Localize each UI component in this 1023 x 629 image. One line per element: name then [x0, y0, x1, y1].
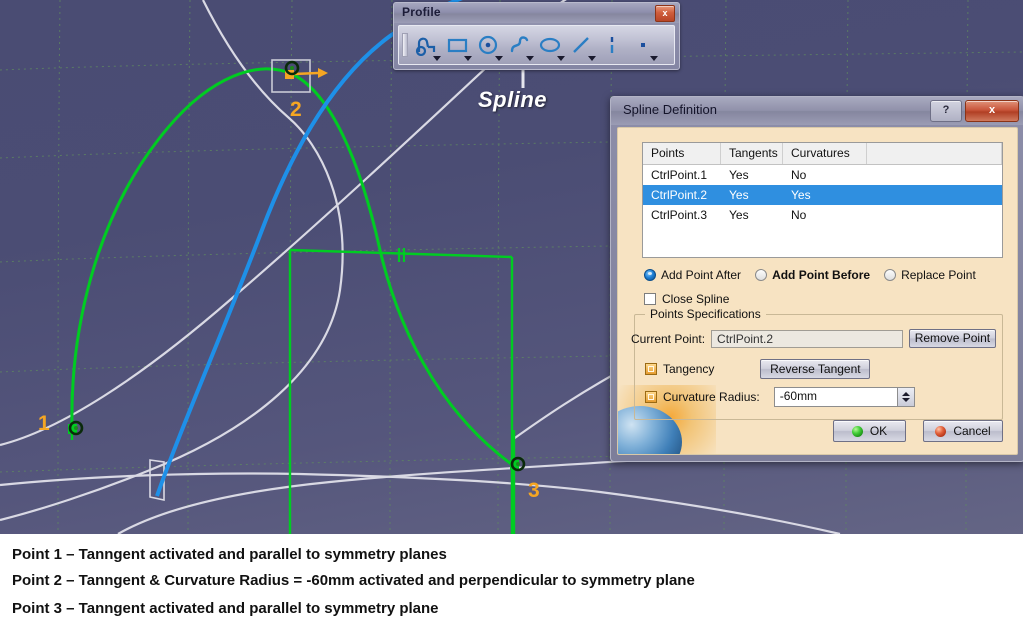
close-spline-checkbox[interactable]: Close Spline [644, 292, 729, 306]
dialog-body: Points Tangents Curvatures CtrlPoint.1 Y… [617, 127, 1018, 455]
column-header-curvatures: Curvatures [783, 143, 867, 164]
point-label-1: 1 [38, 412, 50, 435]
column-header-points: Points [643, 143, 721, 164]
profile-toolbar-titlebar[interactable]: Profile x [394, 3, 679, 23]
cancel-label: Cancel [953, 421, 990, 441]
stepper-up-icon[interactable] [902, 392, 910, 396]
group-title: Points Specifications [645, 307, 766, 321]
cell-curvature: No [783, 168, 867, 182]
current-point-input[interactable]: CtrlPoint.2 [711, 330, 903, 348]
current-point-label: Current Point: [631, 332, 705, 346]
radio-replace-point[interactable]: Replace Point [884, 268, 976, 282]
radio-icon[interactable] [644, 269, 656, 281]
parallel-constraint-symbol [399, 248, 404, 262]
chevron-down-icon[interactable] [464, 56, 472, 61]
chevron-down-icon[interactable] [495, 56, 503, 61]
point-label-2: 2 [290, 98, 302, 121]
reverse-tangent-button[interactable]: Reverse Tangent [760, 359, 870, 379]
caption-line-2: Point 2 – Tanngent & Curvature Radius = … [12, 572, 695, 589]
table-row[interactable]: CtrlPoint.3 Yes No [643, 205, 1002, 225]
cell-curvature: No [783, 208, 867, 222]
chevron-down-icon[interactable] [433, 56, 441, 61]
ok-button[interactable]: OK [833, 420, 906, 442]
spline-definition-dialog[interactable]: Spline Definition ? x Points Tangents Cu… [610, 96, 1023, 462]
dialog-titlebar[interactable]: Spline Definition ? x [611, 97, 1023, 125]
cell-tangent: Yes [721, 168, 783, 182]
profile-icon [415, 34, 438, 56]
construction-frame [290, 250, 512, 534]
toolbar-drag-handle[interactable] [402, 33, 408, 57]
radio-icon[interactable] [884, 269, 896, 281]
radio-icon[interactable] [755, 269, 767, 281]
spline-icon [508, 34, 531, 56]
radio-add-point-before[interactable]: Add Point Before [755, 268, 870, 282]
column-header-spacer [867, 143, 1002, 164]
radio-add-point-after[interactable]: Add Point After [644, 268, 741, 282]
profile-toolbar-title: Profile [402, 5, 441, 19]
close-spline-label: Close Spline [662, 292, 729, 306]
curvature-radius-checkbox-icon[interactable] [645, 391, 657, 403]
chevron-down-icon[interactable] [650, 56, 658, 61]
green-spline-curve [72, 69, 514, 466]
spline-tool-button[interactable] [504, 28, 535, 62]
line-tool-button[interactable] [566, 28, 597, 62]
radio-label: Add Point Before [772, 268, 870, 282]
profile-toolbar[interactable]: Profile x [393, 2, 680, 70]
rectangle-tool-button[interactable] [442, 28, 473, 62]
caption-line-1: Point 1 – Tanngent activated and paralle… [12, 546, 447, 563]
point-mode-radio-group[interactable]: Add Point After Add Point Before Replace… [644, 268, 990, 282]
spline-callout-label: Spline [478, 87, 547, 113]
cell-tangent: Yes [721, 208, 783, 222]
help-icon[interactable]: ? [930, 100, 962, 122]
axis-tool-button[interactable] [597, 28, 628, 62]
table-row[interactable]: CtrlPoint.2 Yes Yes [643, 185, 1002, 205]
axis-icon [601, 34, 624, 56]
cancel-status-icon [935, 426, 946, 437]
circle-icon [477, 34, 500, 56]
curvature-radius-row: Curvature Radius: -60mm [645, 387, 915, 407]
cell-point: CtrlPoint.2 [643, 188, 721, 202]
line-icon [570, 34, 593, 56]
profile-tool-button[interactable] [411, 28, 442, 62]
cell-point: CtrlPoint.1 [643, 168, 721, 182]
profile-toolbar-strip [398, 25, 675, 65]
cell-point: CtrlPoint.3 [643, 208, 721, 222]
tangency-label: Tangency [663, 362, 714, 376]
close-icon[interactable]: x [655, 5, 675, 22]
stepper-down-icon[interactable] [902, 398, 910, 402]
table-row[interactable]: CtrlPoint.1 Yes No [643, 165, 1002, 185]
chevron-down-icon[interactable] [557, 56, 565, 61]
caption-area: Point 1 – Tanngent activated and paralle… [0, 534, 1023, 629]
chevron-down-icon[interactable] [588, 56, 596, 61]
ellipse-icon [539, 34, 562, 56]
points-specifications-group: Points Specifications Current Point: Ctr… [634, 314, 1003, 420]
remove-point-button[interactable]: Remove Point [909, 329, 996, 348]
point-tool-button[interactable] [628, 28, 659, 62]
caption-line-3: Point 3 – Tanngent activated and paralle… [12, 600, 439, 617]
radio-label: Replace Point [901, 268, 976, 282]
tangency-row: Tangency Reverse Tangent [645, 359, 870, 379]
curvature-radius-label: Curvature Radius: [663, 390, 760, 404]
circle-tool-button[interactable] [473, 28, 504, 62]
ellipse-tool-button[interactable] [535, 28, 566, 62]
point-icon [632, 34, 655, 56]
current-point-row: Current Point: CtrlPoint.2 Remove Point [631, 329, 996, 348]
checkbox-icon[interactable] [644, 293, 656, 305]
curvature-radius-input[interactable]: -60mm [774, 387, 898, 407]
tangency-checkbox-icon[interactable] [645, 363, 657, 375]
point-axis-lines [72, 392, 514, 534]
radio-label: Add Point After [661, 268, 741, 282]
cancel-button[interactable]: Cancel [923, 420, 1003, 442]
cell-tangent: Yes [721, 188, 783, 202]
ok-status-icon [852, 426, 863, 437]
dialog-title: Spline Definition [623, 102, 717, 117]
points-table[interactable]: Points Tangents Curvatures CtrlPoint.1 Y… [642, 142, 1003, 258]
curvature-radius-stepper[interactable] [898, 387, 915, 407]
point-label-3: 3 [528, 479, 540, 502]
close-icon[interactable]: x [965, 100, 1019, 122]
cell-curvature: Yes [783, 188, 867, 202]
chevron-down-icon[interactable] [526, 56, 534, 61]
ok-label: OK [870, 421, 887, 441]
rectangle-icon [446, 34, 469, 56]
column-header-tangents: Tangents [721, 143, 783, 164]
blue-selected-spline [157, 0, 500, 496]
table-header-row: Points Tangents Curvatures [643, 143, 1002, 165]
